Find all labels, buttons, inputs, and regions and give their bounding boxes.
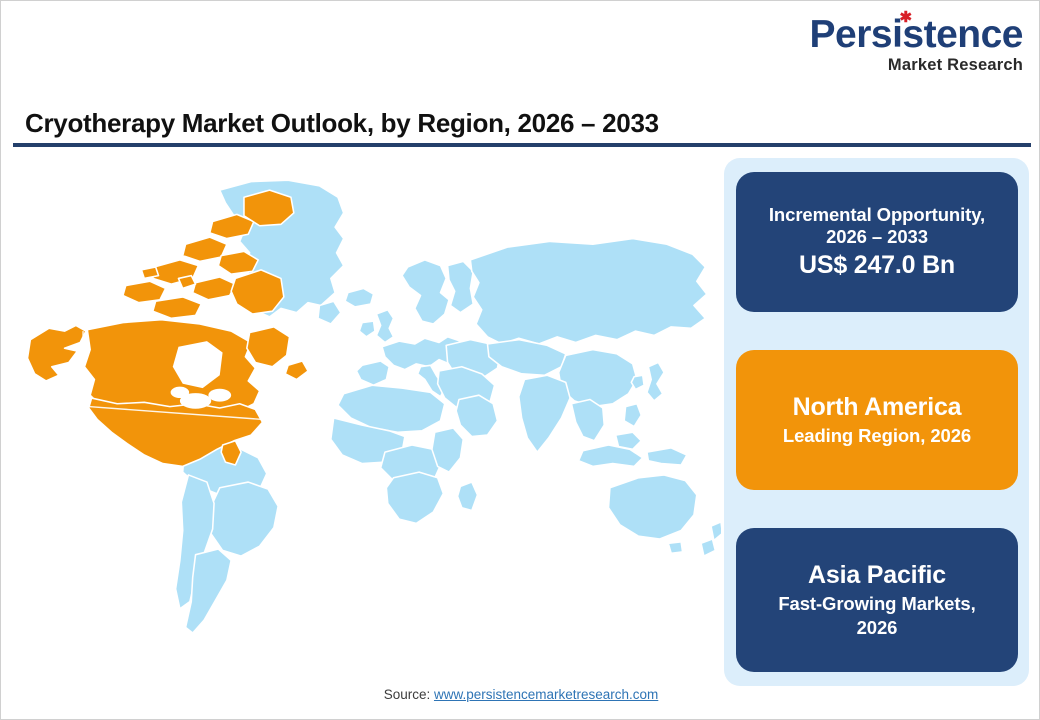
map-country-ireland	[359, 321, 375, 337]
map-country-uk	[376, 310, 393, 343]
card-3-subtitle-line1: Fast-Growing Markets,	[778, 593, 975, 615]
map-country-korea	[631, 375, 644, 389]
logo-brand-text: Persistence ✱	[810, 15, 1023, 54]
card-3-headline: Asia Pacific	[808, 561, 946, 590]
red-asterisk-icon: ✱	[900, 13, 909, 22]
map-country-australia	[609, 475, 697, 539]
map-country-finland	[448, 261, 474, 312]
card-1-label-line1: Incremental Opportunity,	[769, 204, 985, 226]
company-logo: Persistence ✱ Market Research	[793, 15, 1023, 74]
map-region-labrador	[247, 327, 290, 367]
map-region-southern-africa	[386, 472, 443, 523]
map-country-scandinavia	[402, 260, 449, 324]
page-title: Cryotherapy Market Outlook, by Region, 2…	[25, 108, 659, 139]
map-country-tasmania	[668, 542, 682, 553]
source-line: Source: www.persistencemarketresearch.co…	[1, 687, 1040, 702]
title-divider	[13, 143, 1031, 147]
world-map-svg	[9, 153, 721, 673]
map-region-brazil	[210, 482, 278, 556]
source-prefix: Source:	[384, 687, 434, 702]
map-region-south-asia	[519, 375, 570, 452]
card-2-headline: North America	[793, 393, 962, 422]
card-incremental-opportunity[interactable]: Incremental Opportunity, 2026 – 2033 US$…	[736, 172, 1018, 312]
card-2-subtitle: Leading Region, 2026	[783, 425, 971, 447]
map-country-philippines	[624, 404, 641, 427]
map-region-arabia	[456, 395, 497, 436]
card-3-subtitle-line2: 2026	[857, 617, 898, 639]
map-region-arctic-island-small-1	[178, 276, 195, 289]
map-region-alaska	[28, 325, 86, 381]
map-region-southeast-asia	[571, 399, 604, 440]
logo-tagline: Market Research	[793, 57, 1023, 74]
map-country-madagascar	[458, 482, 478, 510]
map-region-baffin	[231, 270, 284, 314]
map-region-east-africa	[432, 428, 463, 472]
map-region-arctic-island-small-2	[141, 267, 158, 278]
map-country-new-guinea	[647, 448, 687, 465]
map-region-canadian-arctic-6	[193, 277, 236, 300]
card-fast-growing-market[interactable]: Asia Pacific Fast-Growing Markets, 2026	[736, 528, 1018, 672]
map-region-canadian-arctic-4	[123, 281, 166, 302]
map-country-new-zealand	[711, 522, 721, 541]
map-country-new-zealand-south	[701, 539, 715, 556]
logo-brand-label: Persistence	[810, 13, 1023, 56]
infographic-canvas: Persistence ✱ Market Research Cryotherap…	[0, 0, 1040, 720]
map-country-borneo	[616, 432, 642, 449]
map-region-greenland-east	[318, 301, 341, 324]
map-country-newfoundland	[285, 361, 308, 380]
map-region-central-asia	[487, 340, 565, 376]
map-region-russia	[470, 239, 706, 344]
card-1-label-line2: 2026 – 2033	[826, 226, 928, 248]
map-country-japan	[647, 362, 664, 400]
map-region-ellesmere	[244, 190, 294, 226]
card-leading-region[interactable]: North America Leading Region, 2026	[736, 350, 1018, 490]
map-region-iberia	[356, 361, 389, 385]
kpi-panel: Incremental Opportunity, 2026 – 2033 US$…	[724, 158, 1029, 686]
map-country-iceland	[345, 288, 373, 307]
card-1-value: US$ 247.0 Bn	[799, 251, 955, 280]
world-map	[9, 153, 721, 673]
map-region-canadian-arctic-5	[153, 297, 201, 318]
source-url-link[interactable]: www.persistencemarketresearch.com	[434, 687, 658, 702]
